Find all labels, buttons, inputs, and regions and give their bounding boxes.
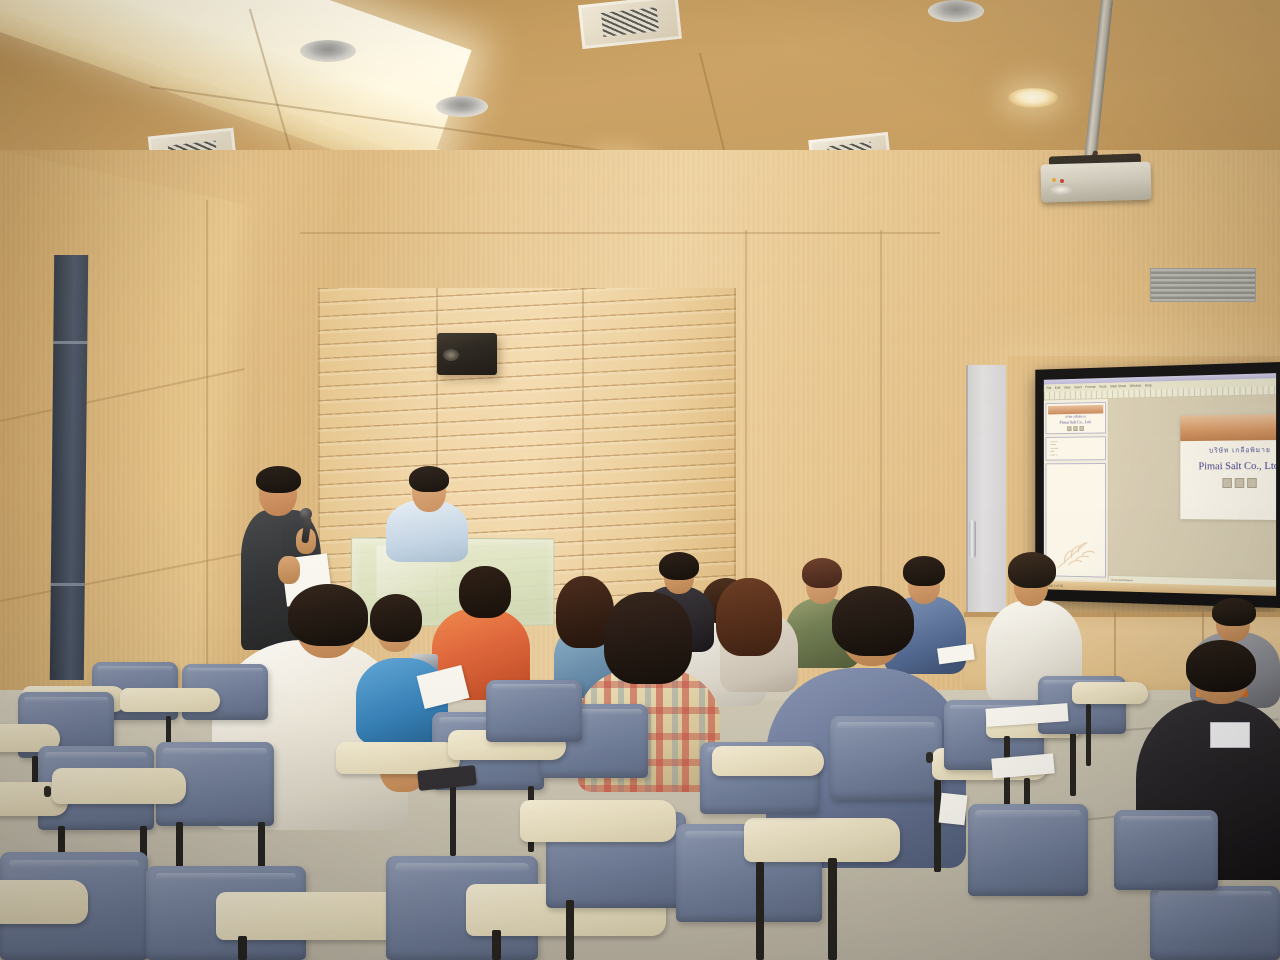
speaker-cone-icon — [443, 349, 459, 361]
wall-panel-seam — [300, 232, 940, 234]
menu-slideshow[interactable]: Slide Show — [1110, 384, 1126, 388]
certification-logo-icon — [1223, 478, 1232, 488]
slide-thumbnail-3[interactable] — [1046, 463, 1106, 578]
slide-banner-image — [1180, 414, 1276, 442]
ceiling-projector — [1041, 162, 1152, 203]
thumb-logo-icon — [1073, 426, 1077, 431]
slide-editing-stage[interactable]: บริษัท เกลือพิมาย Pimai Salt Co., Ltd. — [1109, 395, 1277, 585]
slide-thumbnail-2[interactable]: ▪ ▪▪▪▪ ▪▪▪▪ ▪▪▪▪▪▪▪ ▪▪▪ ▪▪▪▪▪▪ ▪▪▪▪▪ ▪▪▪… — [1046, 436, 1106, 460]
thumb-logo-icon — [1079, 426, 1083, 431]
wall-panel-seam — [880, 230, 882, 630]
wall-column — [50, 255, 88, 680]
projector-status-led — [1052, 178, 1056, 182]
menu-help[interactable]: Help — [1145, 383, 1152, 387]
thumb-english-title: Pimai Salt Co., Ltd. — [1048, 419, 1103, 425]
downlight-1-icon — [300, 40, 356, 62]
downlight-2-icon — [436, 96, 488, 117]
slide-english-title: Pimai Salt Co., Ltd. — [1180, 460, 1276, 472]
lecture-room-photo: File Edit View Insert Format Tools Slide… — [0, 0, 1280, 960]
thumb-logo-icon — [1067, 426, 1071, 431]
menu-insert[interactable]: Insert — [1074, 385, 1082, 389]
thumb-bullet-text: ▪ ▪▪▪▪ ▪▪▪▪ ▪▪▪▪▪▪▪ ▪▪▪ ▪▪▪▪▪▪ ▪▪▪▪▪ ▪▪▪… — [1048, 439, 1103, 458]
slide-banner-image — [1048, 405, 1103, 415]
slide-thumbnail-1[interactable]: บริษัท เกลือพิมาย Pimai Salt Co., Ltd. — [1046, 402, 1106, 434]
menu-edit[interactable]: Edit — [1055, 386, 1060, 390]
slide-thai-heading: บริษัท เกลือพิมาย — [1180, 445, 1276, 457]
projector-lens-icon — [1048, 184, 1074, 195]
projector-status-led — [1060, 179, 1064, 183]
door-handle-icon[interactable] — [969, 520, 976, 558]
menu-view[interactable]: View — [1064, 386, 1071, 390]
certification-logo-icon — [1235, 478, 1245, 488]
projection-screen: File Edit View Insert Format Tools Slide… — [1035, 362, 1280, 608]
current-slide[interactable]: บริษัท เกลือพิมาย Pimai Salt Co., Ltd. — [1180, 414, 1276, 521]
certification-logo-icon — [1247, 478, 1257, 488]
downlight-8-icon — [928, 0, 984, 22]
air-return-grille — [1150, 268, 1256, 302]
vent-louvre-icon — [601, 7, 659, 37]
menu-tools[interactable]: Tools — [1099, 385, 1106, 389]
powerpoint-workspace: บริษัท เกลือพิมาย Pimai Salt Co., Ltd. ▪… — [1044, 395, 1276, 585]
wall-panel-seam — [206, 200, 208, 680]
menu-format[interactable]: Format — [1085, 385, 1095, 389]
menu-window[interactable]: Window — [1130, 384, 1142, 388]
diagram-icon — [1053, 534, 1104, 573]
slide-thumbnail-pane[interactable]: บริษัท เกลือพิมาย Pimai Salt Co., Ltd. ▪… — [1044, 399, 1109, 581]
handout-document — [939, 793, 968, 826]
menu-file[interactable]: File — [1046, 386, 1051, 390]
projected-image: File Edit View Insert Format Tools Slide… — [1044, 373, 1276, 596]
slide-logo-row — [1180, 478, 1276, 488]
downlight-9-icon — [1008, 88, 1058, 108]
name-badge — [1210, 722, 1250, 748]
wall-panel-seam — [745, 230, 747, 630]
